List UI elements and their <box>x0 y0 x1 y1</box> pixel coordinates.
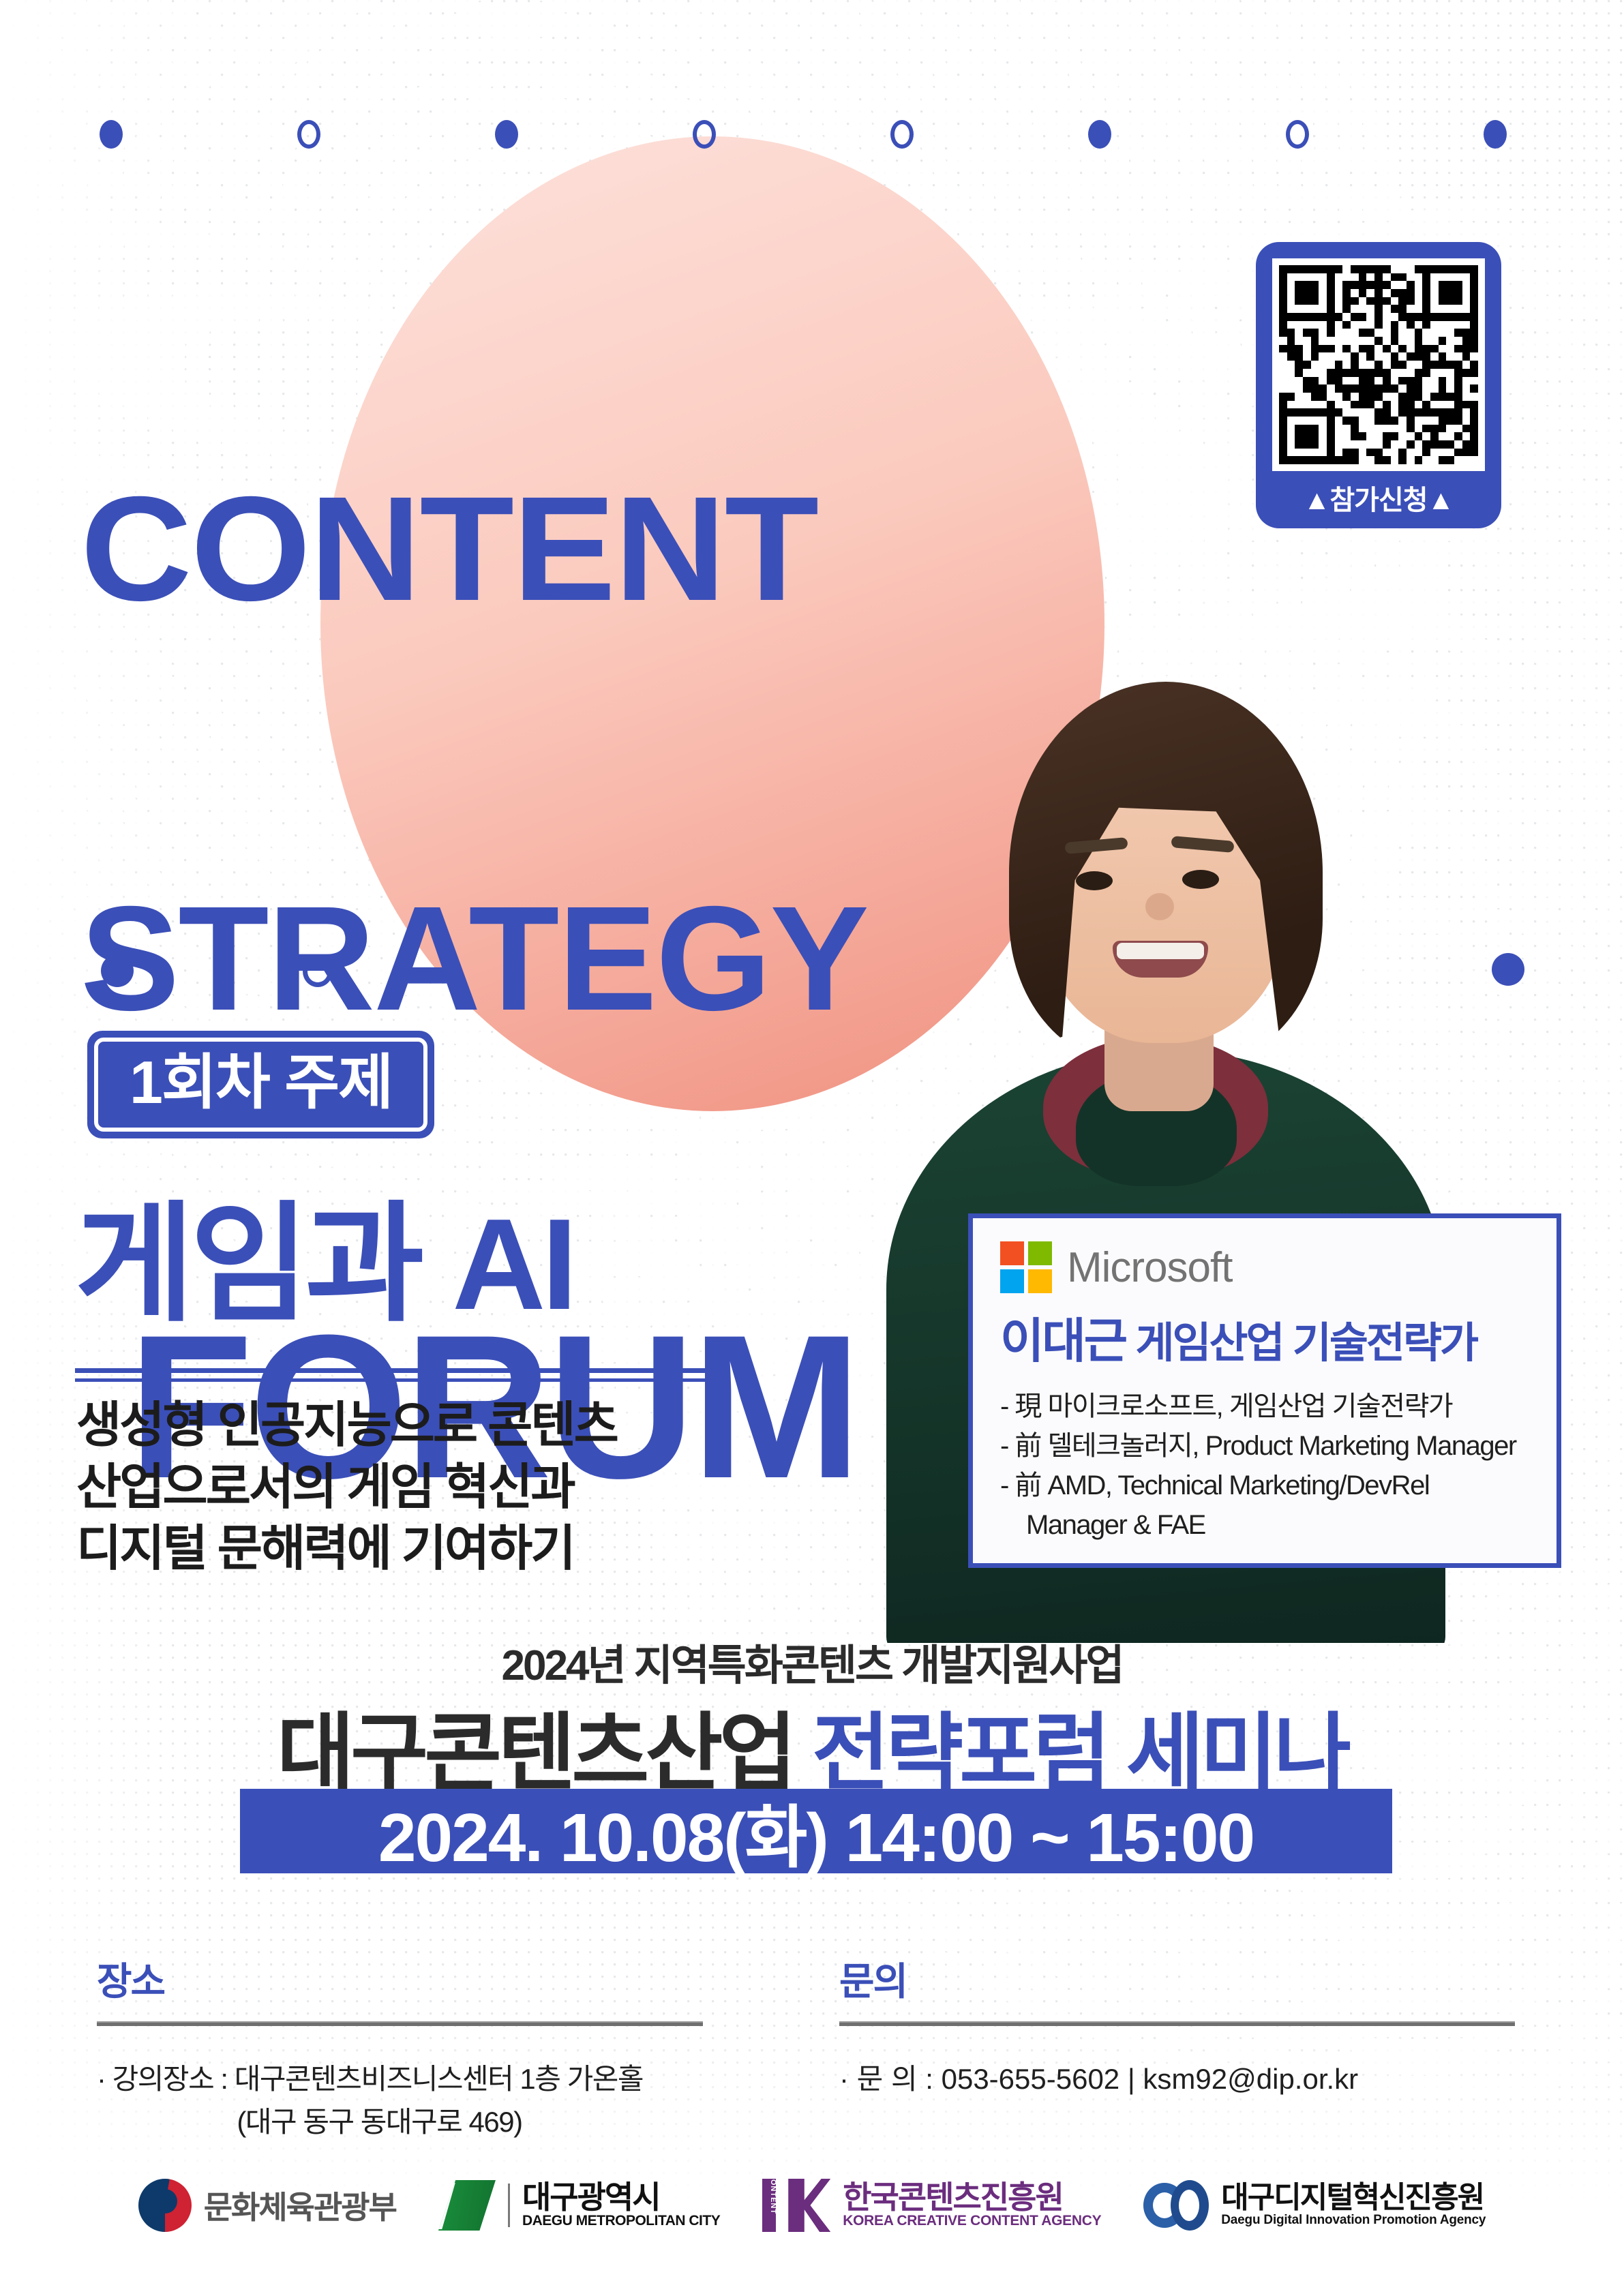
list-item: Manager & FAE <box>1000 1505 1529 1545</box>
venue-line-2: (대구 동구 동대구로 469) <box>97 2100 703 2143</box>
info-section: 장소 · 강의장소 : 대구콘텐츠비즈니스센터 1층 가온홀 (대구 동구 동대… <box>0 1951 1624 2143</box>
event-date-banner: 2024. 10.08(화) 14:00 ~ 15:00 <box>240 1789 1392 1873</box>
dot-filled <box>1088 120 1111 149</box>
venue-text: · 강의장소 : 대구콘텐츠비즈니스센터 1층 가온홀 (대구 동구 동대구로 … <box>97 2057 703 2143</box>
logo-kocca: CONTENT 한국콘텐츠진흥원 KOREA CREATIVE CONTENT … <box>762 2179 1101 2232</box>
logo-daegu-text: 대구광역시 DAEGU METROPOLITAN CITY <box>522 2181 720 2229</box>
speaker-eye-right <box>1182 870 1219 889</box>
session-description-line-3: 디지털 문해력에 기여하기 <box>76 1518 617 1580</box>
speaker-eye-left <box>1076 871 1113 890</box>
venue-rule <box>97 2021 703 2026</box>
footer-logo-bar: 문화체육관광부 대구광역시 DAEGU METROPOLITAN CITY CO… <box>0 2179 1624 2232</box>
logo-daegu-label-ko: 대구광역시 <box>522 2179 660 2215</box>
logo-kocca-label-ko: 한국콘텐츠진흥원 <box>843 2179 1063 2215</box>
session-description: 생성형 인공지능으로 콘텐츠 산업으로서의 게임 혁신과 디지털 문해력에 기여… <box>76 1395 617 1580</box>
topic-divider <box>75 1368 716 1382</box>
logo-daegu-city: 대구광역시 DAEGU METROPOLITAN CITY <box>438 2180 720 2231</box>
logo-dip-text: 대구디지털혁신진흥원 Daegu Digital Innovation Prom… <box>1221 2183 1486 2228</box>
event-subtitle: 2024년 지역특화콘텐츠 개발지원사업 <box>0 1631 1624 1692</box>
top-dot-row <box>0 120 1624 147</box>
speaker-name-role: 이대근 게임산업 기술전략가 <box>1000 1303 1529 1372</box>
venue-column: 장소 · 강의장소 : 대구콘텐츠비즈니스센터 1층 가온홀 (대구 동구 동대… <box>0 1951 812 2143</box>
session-number-badge: 1회차 주제 <box>87 1031 434 1138</box>
list-item-continuation: Manager & FAE <box>1000 1505 1529 1545</box>
venue-label: 장소 <box>97 1951 703 2006</box>
kocca-bar-icon: CONTENT <box>762 2179 776 2232</box>
kocca-bar-label: CONTENT <box>769 2173 777 2214</box>
logo-kocca-label-en: KOREA CREATIVE CONTENT AGENCY <box>843 2213 1101 2229</box>
speaker-mouth <box>1113 941 1208 978</box>
session-description-line-2: 산업으로서의 게임 혁신과 <box>76 1457 617 1519</box>
venue-line-1: · 강의장소 : 대구콘텐츠비즈니스센터 1층 가온홀 <box>97 2063 643 2095</box>
headline-line-1: CONTENT <box>80 481 1328 619</box>
contact-label: 문의 <box>839 1951 1515 2006</box>
logo-mcst-label: 문화체육관광부 <box>204 2183 396 2228</box>
dot-filled <box>1484 120 1507 149</box>
speaker-info-card: Microsoft 이대근 게임산업 기술전략가 - 現 마이크로소프트, 게임… <box>968 1213 1561 1568</box>
speaker-role: 게임산업 기술전략가 <box>1135 1320 1477 1367</box>
speaker-nose <box>1145 893 1174 920</box>
qr-registration-badge[interactable]: ▲참가신청▲ <box>1256 242 1501 528</box>
dot-filled <box>495 120 518 149</box>
session-topic-title: 게임과 AI <box>75 1200 573 1329</box>
logo-dip: 대구디지털혁신진흥원 Daegu Digital Innovation Prom… <box>1143 2180 1486 2231</box>
session-description-line-1: 생성형 인공지능으로 콘텐츠 <box>76 1395 617 1457</box>
microsoft-logo-icon <box>1000 1241 1052 1293</box>
list-item: - 前 AMD, Technical Marketing/DevRel <box>1000 1466 1529 1505</box>
dot-hollow <box>1286 120 1309 149</box>
microsoft-wordmark: Microsoft <box>1067 1243 1232 1292</box>
daegu-mark-icon <box>438 2180 496 2231</box>
logo-kocca-text: 한국콘텐츠진흥원 KOREA CREATIVE CONTENT AGENCY <box>843 2181 1101 2229</box>
poster-root: CONTENT STRATEGY FORUM ▲참가신청▲ 1회차 주제 게임과… <box>0 0 1624 2296</box>
session-badge-label: 1회차 주제 <box>130 1048 392 1116</box>
dot-hollow <box>890 120 914 149</box>
logo-dip-label-ko: 대구디지털혁신진흥원 <box>1221 2181 1484 2214</box>
contact-column: 문의 · 문 의 : 053-655-5602 | ksm92@dip.or.k… <box>812 1951 1624 2143</box>
dip-mark-icon <box>1143 2180 1209 2231</box>
contact-line-1: · 문 의 : 053-655-5602 | ksm92@dip.or.kr <box>839 2063 1358 2095</box>
dot-hollow <box>693 120 716 149</box>
speaker-teeth <box>1117 943 1204 959</box>
taegeuk-icon <box>138 2179 192 2232</box>
qr-caption: ▲참가신청▲ <box>1272 478 1485 517</box>
logo-dip-label-en: Daegu Digital Innovation Promotion Agenc… <box>1221 2213 1486 2227</box>
qr-code-icon[interactable] <box>1272 258 1485 471</box>
list-item: - 現 마이크로소프트, 게임산업 기술전략가 <box>1000 1387 1529 1426</box>
dot-filled <box>100 120 123 149</box>
logo-daegu-label-en: DAEGU METROPOLITAN CITY <box>522 2213 720 2229</box>
list-item: - 前 델테크놀러지, Product Marketing Manager <box>1000 1426 1529 1466</box>
contact-text: · 문 의 : 053-655-5602 | ksm92@dip.or.kr <box>839 2057 1515 2100</box>
dot-hollow <box>297 120 320 149</box>
logo-mcst: 문화체육관광부 <box>138 2179 396 2232</box>
contact-rule <box>839 2021 1515 2026</box>
kocca-k-icon <box>788 2179 830 2232</box>
microsoft-brand-row: Microsoft <box>1000 1241 1529 1293</box>
speaker-history-list: - 現 마이크로소프트, 게임산업 기술전략가 - 前 델테크놀러지, Prod… <box>1000 1387 1529 1545</box>
logo-separator <box>508 2184 510 2227</box>
speaker-name: 이대근 <box>1000 1314 1126 1368</box>
